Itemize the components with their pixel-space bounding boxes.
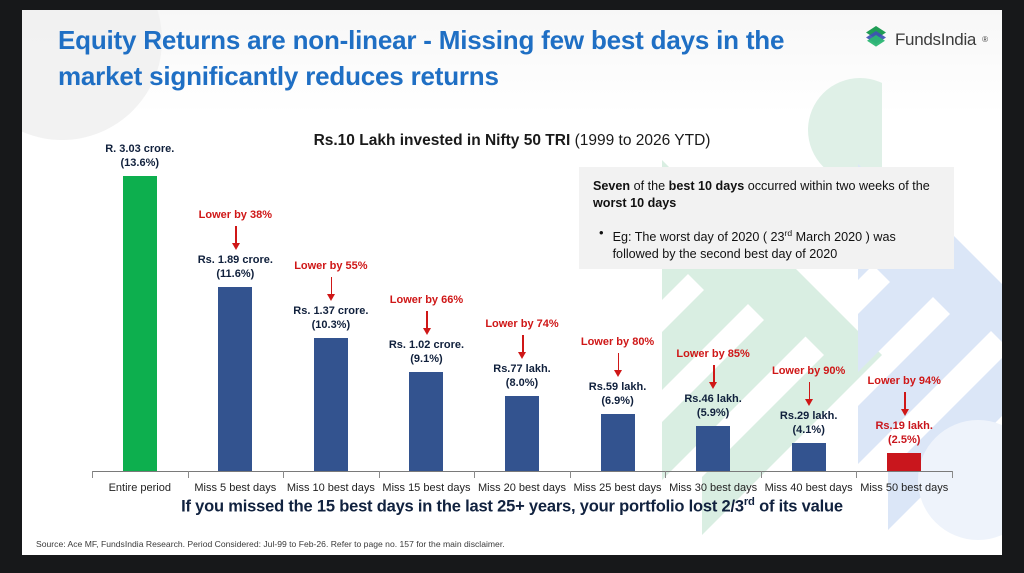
x-axis-tick (474, 471, 475, 478)
x-axis-tick (379, 471, 380, 478)
chart-title-bold: Rs.10 Lakh invested in Nifty 50 TRI (314, 132, 571, 149)
drop-annotation: Lower by 38% (150, 209, 320, 221)
x-axis-tick (570, 471, 571, 478)
drop-arrow-head (327, 294, 335, 301)
brand-logo: FundsIndia ® (863, 24, 988, 55)
drop-arrow-shaft (904, 392, 906, 410)
bar-value-amount: Rs.77 lakh. (437, 362, 607, 376)
bar-rect (601, 414, 635, 471)
drop-arrow-shaft (426, 311, 428, 329)
x-axis-label-8: Miss 50 best days (829, 482, 979, 494)
chart-title-period: (1999 to 2026 YTD) (570, 132, 710, 149)
caption-part-b: of its value (755, 498, 843, 516)
bottom-caption: If you missed the 15 best days in the la… (22, 496, 1002, 517)
x-axis-tick (92, 471, 93, 478)
drop-annotation: Lower by 94% (819, 375, 989, 387)
bar-value-amount: R. 3.03 crore. (55, 142, 225, 156)
page-title: Equity Returns are non-linear - Missing … (58, 22, 848, 94)
slide-header: Equity Returns are non-linear - Missing … (22, 10, 1002, 106)
drop-arrow-head (423, 328, 431, 335)
x-axis-tick (856, 471, 857, 478)
bar-miss-25-best-days (601, 414, 635, 471)
logo-trademark: ® (982, 35, 988, 44)
bar-value-amount: Rs. 1.02 crore. (341, 338, 511, 352)
bar-rect (792, 443, 826, 471)
caption-ordinal-sup: rd (744, 496, 755, 508)
drop-arrow-head (518, 352, 526, 359)
drop-arrow-shaft (809, 382, 811, 400)
source-footnote: Source: Ace MF, FundsIndia Research. Per… (36, 539, 505, 549)
x-axis-tick (283, 471, 284, 478)
x-axis-tick (665, 471, 666, 478)
drop-annotation: Lower by 55% (246, 260, 416, 272)
bar-value-amount: Rs. 1.37 crore. (246, 304, 416, 318)
bar-value-cagr: (2.5%) (819, 433, 989, 447)
drop-arrow-shaft (522, 335, 524, 353)
drop-annotation: Lower by 85% (628, 348, 798, 360)
drop-arrow-head (805, 399, 813, 406)
bar-value-label: R. 3.03 crore.(13.6%) (55, 142, 225, 170)
bar-value-cagr: (10.3%) (246, 318, 416, 332)
bar-rect (887, 453, 921, 471)
drop-annotation: Lower by 80% (533, 336, 703, 348)
logo-wordmark: FundsIndia (895, 30, 976, 50)
slide-canvas: Equity Returns are non-linear - Missing … (22, 10, 1002, 555)
drop-arrow-shaft (713, 365, 715, 383)
x-axis-tick (188, 471, 189, 478)
bar-value-cagr: (13.6%) (55, 156, 225, 170)
fundsindia-diamond-icon (863, 24, 889, 55)
bar-chart-plot: R. 3.03 crore.(13.6%)Rs. 1.89 crore.(11.… (60, 160, 960, 482)
drop-annotation: Lower by 74% (437, 318, 607, 330)
bar-value-label: Rs.19 lakh.(2.5%) (819, 419, 989, 447)
drop-arrow-shaft (331, 277, 333, 295)
bar-value-amount: Rs.46 lakh. (628, 392, 798, 406)
bar-miss-50-best-days (887, 453, 921, 471)
drop-annotation: Lower by 66% (341, 294, 511, 306)
drop-arrow-head (901, 409, 909, 416)
drop-arrow-head (614, 370, 622, 377)
drop-arrow-head (232, 243, 240, 250)
bar-value-label: Rs. 1.37 crore.(10.3%) (246, 304, 416, 332)
drop-arrow-head (709, 382, 717, 389)
drop-arrow-shaft (235, 226, 237, 244)
drop-arrow-shaft (618, 353, 620, 371)
caption-part-a: If you missed the 15 best days in the la… (181, 498, 744, 516)
x-axis-tick (761, 471, 762, 478)
x-axis-line (92, 471, 952, 472)
x-axis-tick (952, 471, 953, 478)
bar-value-amount: Rs.19 lakh. (819, 419, 989, 433)
screenshot-frame: Equity Returns are non-linear - Missing … (0, 0, 1024, 573)
bar-miss-40-best-days (792, 443, 826, 471)
